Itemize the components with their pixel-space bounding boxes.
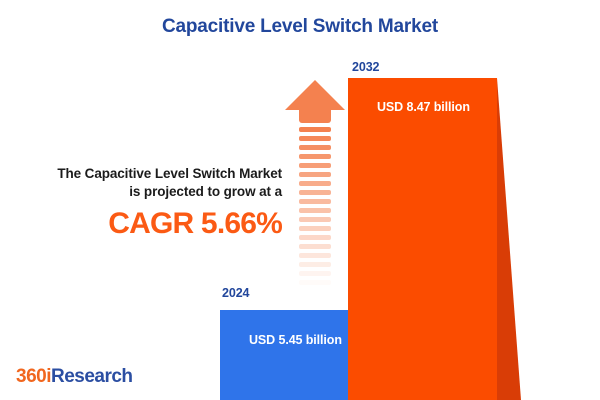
- arrow-stripe: [299, 199, 331, 204]
- cagr-summary-block: The Capacitive Level Switch Market is pr…: [14, 165, 282, 239]
- arrow-stripe: [299, 136, 331, 141]
- cagr-value: CAGR 5.66%: [14, 208, 282, 240]
- bar-2032-value-label: USD 8.47 billion: [377, 100, 470, 114]
- arrow-stripe: [299, 172, 331, 177]
- arrow-stripe: [299, 145, 331, 150]
- logo-suffix: Research: [51, 366, 133, 387]
- arrow-stripe: [299, 226, 331, 231]
- brand-logo: 360iResearch: [16, 366, 133, 388]
- arrow-stripe: [299, 181, 331, 186]
- arrow-stripe: [299, 208, 331, 213]
- bar-2024-value-label: USD 5.45 billion: [249, 333, 342, 347]
- arrow-stripes: [299, 127, 331, 292]
- arrow-stripe: [299, 127, 331, 132]
- bar-2032: USD 8.47 billion: [348, 78, 497, 400]
- logo-prefix: 360i: [16, 366, 51, 387]
- arrow-stripe: [299, 163, 331, 168]
- bar-2032-front-face: [348, 78, 497, 400]
- bar-2032-side-face: [497, 78, 521, 400]
- bar-year-label-2024: 2024: [222, 286, 249, 300]
- arrow-head-icon: [285, 80, 345, 110]
- arrow-neck: [299, 109, 331, 123]
- arrow-stripe: [299, 262, 331, 267]
- cagr-lead-line-1: The Capacitive Level Switch Market: [57, 166, 282, 181]
- upward-growth-arrow-icon: [285, 80, 345, 292]
- arrow-stripe: [299, 154, 331, 159]
- bar-year-label-2032: 2032: [352, 60, 379, 74]
- arrow-stripe: [299, 235, 331, 240]
- arrow-stripe: [299, 280, 331, 285]
- arrow-stripe: [299, 244, 331, 249]
- arrow-stripe: [299, 190, 331, 195]
- arrow-stripe: [299, 217, 331, 222]
- market-infographic: Capacitive Level Switch Market The Capac…: [0, 0, 600, 400]
- cagr-lead-text: The Capacitive Level Switch Market is pr…: [14, 165, 282, 201]
- arrow-stripe: [299, 253, 331, 258]
- cagr-lead-line-2: is projected to grow at a: [129, 184, 282, 199]
- arrow-stripe: [299, 271, 331, 276]
- page-title: Capacitive Level Switch Market: [0, 16, 600, 38]
